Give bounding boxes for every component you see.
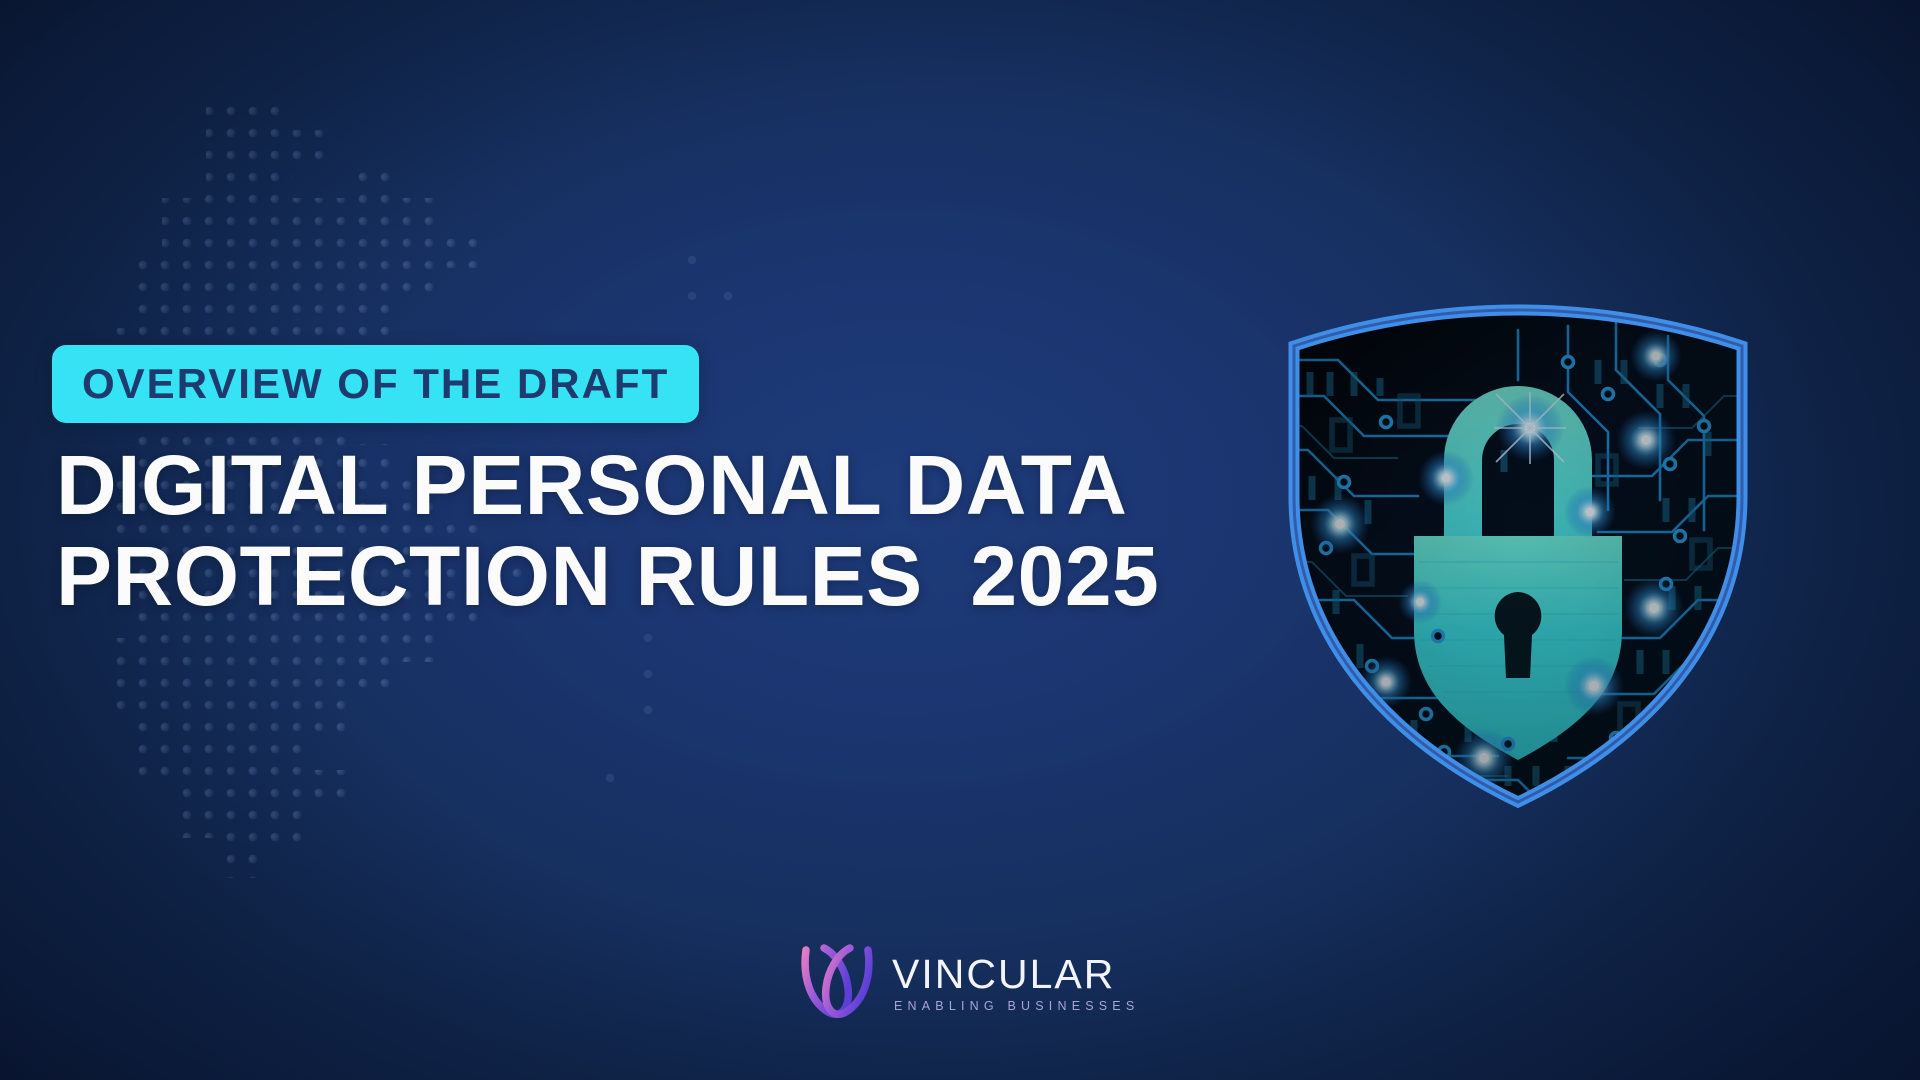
eyebrow-badge: OVERVIEW OF THE DRAFT bbox=[52, 345, 699, 423]
vincular-tagline: ENABLING BUSINESSES bbox=[892, 1000, 1139, 1013]
page-title: DIGITAL PERSONAL DATA PROTECTION RULES 2… bbox=[56, 440, 1176, 621]
vincular-logo: VINCULAR ENABLING BUSINESSES bbox=[798, 940, 1139, 1026]
security-shield-illustration bbox=[1268, 300, 1768, 812]
vincular-v-mark-icon bbox=[798, 940, 876, 1026]
page-title-line-2: PROTECTION RULES 2025 bbox=[56, 531, 1176, 622]
slide-canvas: OVERVIEW OF THE DRAFT DIGITAL PERSONAL D… bbox=[0, 0, 1920, 1080]
eyebrow-badge-label: OVERVIEW OF THE DRAFT bbox=[82, 363, 669, 405]
vincular-wordmark: VINCULAR bbox=[892, 954, 1139, 995]
page-title-line-1: DIGITAL PERSONAL DATA bbox=[56, 440, 1176, 531]
vincular-wordmark-group: VINCULAR ENABLING BUSINESSES bbox=[892, 954, 1139, 1013]
